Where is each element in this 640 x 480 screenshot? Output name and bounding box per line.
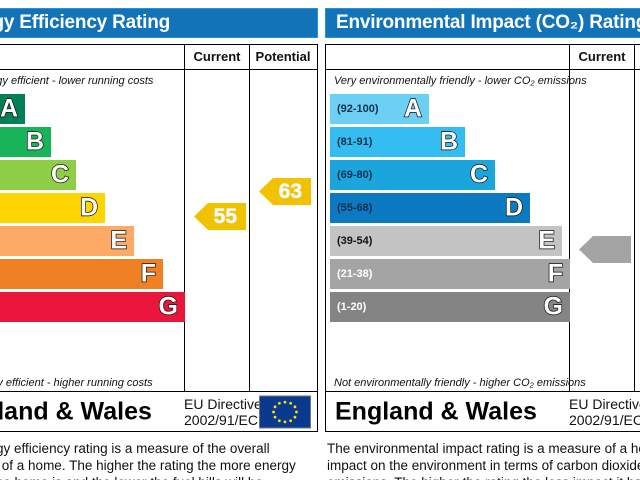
energy-banner-title: Energy Efficiency Rating [0,8,318,38]
environmental-band-b-range: (81-91) [330,136,372,148]
energy-band-a: (92-100) A [0,94,25,124]
energy-note-top: Very energy efficient - lower running co… [0,75,153,87]
energy-country-label: England & Wales [0,397,152,426]
environmental-band-e: (39-54) E [330,226,562,256]
environmental-impact-rating-panel: Environmental Impact (CO₂) Rating Curren… [325,0,640,480]
energy-band-g: (1-20) G [0,292,185,322]
energy-column-divider-2 [249,70,250,393]
environmental-band-f-range: (21-38) [330,268,372,280]
environmental-potential-column-header: Potential [634,45,640,69]
epc-certificate-screenshot: Energy Efficiency Rating Current Potenti… [0,0,640,480]
environmental-chart-frame: Current Potential Very environmentally f… [325,44,640,392]
environmental-band-a: (92-100) A [330,94,429,124]
environmental-band-g: (1-20) G [330,292,570,322]
environmental-column-divider-1 [569,70,570,393]
eu-flag-icon [259,395,311,428]
energy-band-d-letter: D [80,196,98,221]
environmental-band-g-letter: G [544,295,563,320]
environmental-band-a-range: (92-100) [330,103,379,115]
environmental-band-a-letter: A [404,97,422,122]
environmental-eu-directive-line1: EU Directive [569,396,640,412]
energy-current-rating-marker: 55 [194,203,246,230]
energy-chart-frame: Current Potential Very energy efficient … [0,44,318,392]
environmental-band-f-letter: F [548,262,563,287]
environmental-band-f: (21-38) F [330,259,570,289]
energy-band-e: (39-54) E [0,226,134,256]
environmental-banner-title: Environmental Impact (CO₂) Rating [325,8,640,38]
environmental-bands-area: Very environmentally friendly - lower CO… [326,70,569,393]
environmental-band-c: (69-80) C [330,160,495,190]
environmental-band-d-range: (55-68) [330,202,372,214]
energy-band-c: (69-80) C [0,160,76,190]
environmental-column-header-row: Current Potential [326,45,640,70]
environmental-note-bottom: Not environmentally friendly - higher CO… [334,377,586,389]
energy-column-header-row: Current Potential [0,45,317,70]
energy-band-b: (81-91) B [0,127,51,157]
energy-band-f: (21-38) F [0,259,163,289]
environmental-eu-directive-line2: 2002/91/EC [569,412,640,428]
energy-band-c-letter: C [51,163,69,188]
energy-bands-area: Very energy efficient - lower running co… [0,70,184,393]
environmental-band-g-range: (1-20) [330,301,366,313]
energy-band-g-letter: G [159,295,178,320]
energy-band-f-letter: F [141,262,156,287]
environmental-band-d: (55-68) D [330,193,530,223]
environmental-country-label: England & Wales [335,397,537,426]
environmental-footer: England & Wales EU Directive 2002/91/EC [325,392,640,432]
energy-band-a-letter: A [0,97,18,122]
environmental-description-text: The environmental impact rating is a mea… [327,440,640,480]
energy-band-d: (55-68) D [0,193,105,223]
environmental-band-e-letter: E [538,229,555,254]
energy-eu-directive-line2: 2002/91/EC [184,412,262,428]
environmental-band-b: (81-91) B [330,127,465,157]
environmental-eu-directive: EU Directive 2002/91/EC [569,396,640,428]
environmental-note-top: Very environmentally friendly - lower CO… [334,75,587,87]
environmental-band-e-range: (39-54) [330,235,372,247]
environmental-band-d-letter: D [505,196,523,221]
environmental-band-b-letter: B [440,130,458,155]
energy-footer: England & Wales EU Directive 2002/91/EC [0,392,318,432]
energy-potential-rating-marker: 63 [259,178,311,205]
energy-band-e-letter: E [110,229,127,254]
environmental-column-divider-2 [634,70,635,393]
environmental-band-c-range: (69-80) [330,169,372,181]
energy-column-divider-1 [184,70,185,393]
energy-eu-directive-line1: EU Directive [184,396,262,412]
energy-efficiency-rating-panel: Energy Efficiency Rating Current Potenti… [0,0,318,480]
energy-potential-column-header: Potential [249,45,316,69]
environmental-current-column-header: Current [569,45,634,69]
energy-eu-directive: EU Directive 2002/91/EC [184,396,262,428]
environmental-current-rating-marker [579,236,631,263]
environmental-band-c-letter: C [470,163,488,188]
energy-note-bottom: Not energy efficient - higher running co… [0,377,153,389]
energy-description-text: The energy efficiency rating is a measur… [0,440,314,480]
energy-current-column-header: Current [184,45,249,69]
energy-band-b-letter: B [26,130,44,155]
